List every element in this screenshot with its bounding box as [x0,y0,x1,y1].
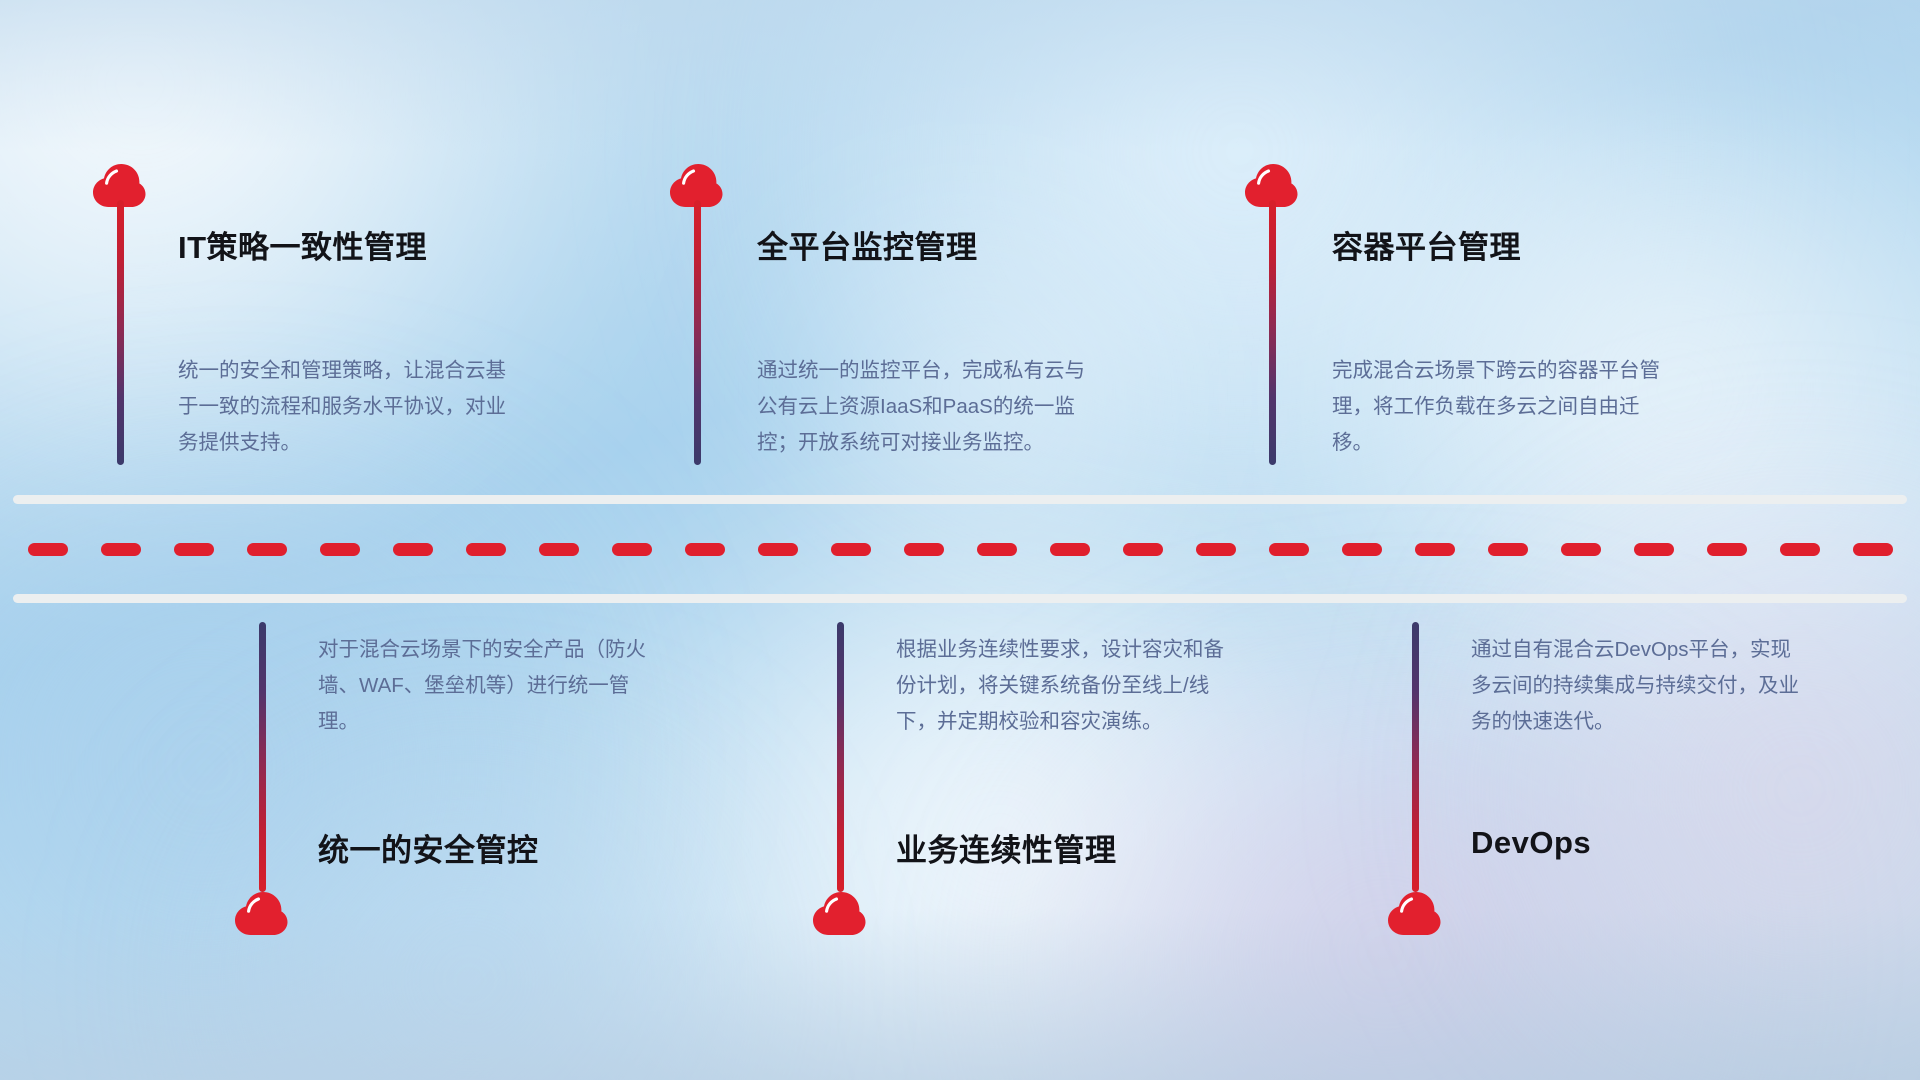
timeline-stem [837,622,844,892]
dash-segment [904,543,944,556]
timeline-stem [1412,622,1419,892]
dash-segment [1269,543,1309,556]
dash-segment [1123,543,1163,556]
dashed-red-rail [0,543,1920,556]
dash-segment [393,543,433,556]
item-heading: 业务连续性管理 [896,825,1117,870]
item-heading: 容器平台管理 [1332,222,1521,267]
item-description: 统一的安全和管理策略，让混合云基于一致的流程和服务水平协议，对业务提供支持。 [178,353,518,461]
dash-segment [1196,543,1236,556]
cloud-icon [1383,888,1445,936]
dash-segment [247,543,287,556]
dash-segment [1488,543,1528,556]
dash-segment [101,543,141,556]
dash-segment [1561,543,1601,556]
dash-segment [320,543,360,556]
dash-segment [1050,543,1090,556]
timeline-stem [259,622,266,892]
dash-segment [612,543,652,556]
timeline-stem [694,200,701,465]
item-description: 通过自有混合云DevOps平台，实现多云间的持续集成与持续交付，及业务的快速迭代… [1471,632,1811,740]
dash-segment [466,543,506,556]
item-heading: 统一的安全管控 [318,825,539,870]
dash-segment [685,543,725,556]
cloud-icon [808,888,870,936]
solid-rail-top [13,495,1907,504]
timeline-stem [117,200,124,465]
dash-segment [174,543,214,556]
item-description: 通过统一的监控平台，完成私有云与公有云上资源IaaS和PaaS的统一监控；开放系… [757,353,1102,461]
dash-segment [831,543,871,556]
dash-segment [758,543,798,556]
dash-segment [1342,543,1382,556]
dash-segment [977,543,1017,556]
dash-segment [28,543,68,556]
item-description: 对于混合云场景下的安全产品（防火墙、WAF、堡垒机等）进行统一管理。 [318,632,658,740]
cloud-icon [230,888,292,936]
dash-segment [1853,543,1893,556]
timeline-stem [1269,200,1276,465]
solid-rail-bottom [13,594,1907,603]
item-description: 完成混合云场景下跨云的容器平台管理，将工作负载在多云之间自由迁移。 [1332,353,1672,461]
dash-segment [1707,543,1747,556]
item-heading: IT策略一致性管理 [178,222,427,267]
item-description: 根据业务连续性要求，设计容灾和备份计划，将关键系统备份至线上/线下，并定期校验和… [896,632,1236,740]
item-heading: 全平台监控管理 [757,222,978,267]
dash-segment [1415,543,1455,556]
dash-segment [1634,543,1674,556]
dash-segment [539,543,579,556]
dash-segment [1780,543,1820,556]
item-heading: DevOps [1471,825,1591,861]
